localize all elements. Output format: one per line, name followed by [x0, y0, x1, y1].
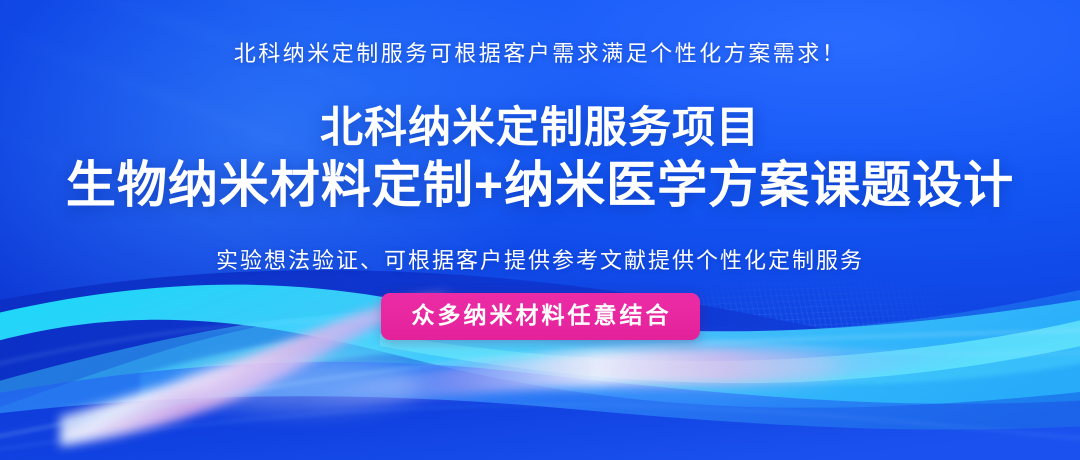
page-title-line-1: 北科纳米定制服务项目 [0, 104, 1080, 153]
banner-kicker: 北科纳米定制服务可根据客户需求满足个性化方案需求！ [0, 36, 1080, 68]
promo-banner: 北科纳米定制服务可根据客户需求满足个性化方案需求！ 北科纳米定制服务项目 生物纳… [0, 0, 1080, 460]
badge-row: 众多纳米材料任意结合 [0, 293, 1080, 340]
banner-subtitle: 实验想法验证、可根据客户提供参考文献提供个性化定制服务 [0, 243, 1080, 275]
banner-title-block: 北科纳米定制服务项目 生物纳米材料定制+纳米医学方案课题设计 [0, 104, 1080, 214]
banner-content: 北科纳米定制服务可根据客户需求满足个性化方案需求！ 北科纳米定制服务项目 生物纳… [0, 0, 1080, 460]
status-badge[interactable]: 众多纳米材料任意结合 [381, 293, 700, 340]
page-title-line-2: 生物纳米材料定制+纳米医学方案课题设计 [0, 157, 1080, 214]
